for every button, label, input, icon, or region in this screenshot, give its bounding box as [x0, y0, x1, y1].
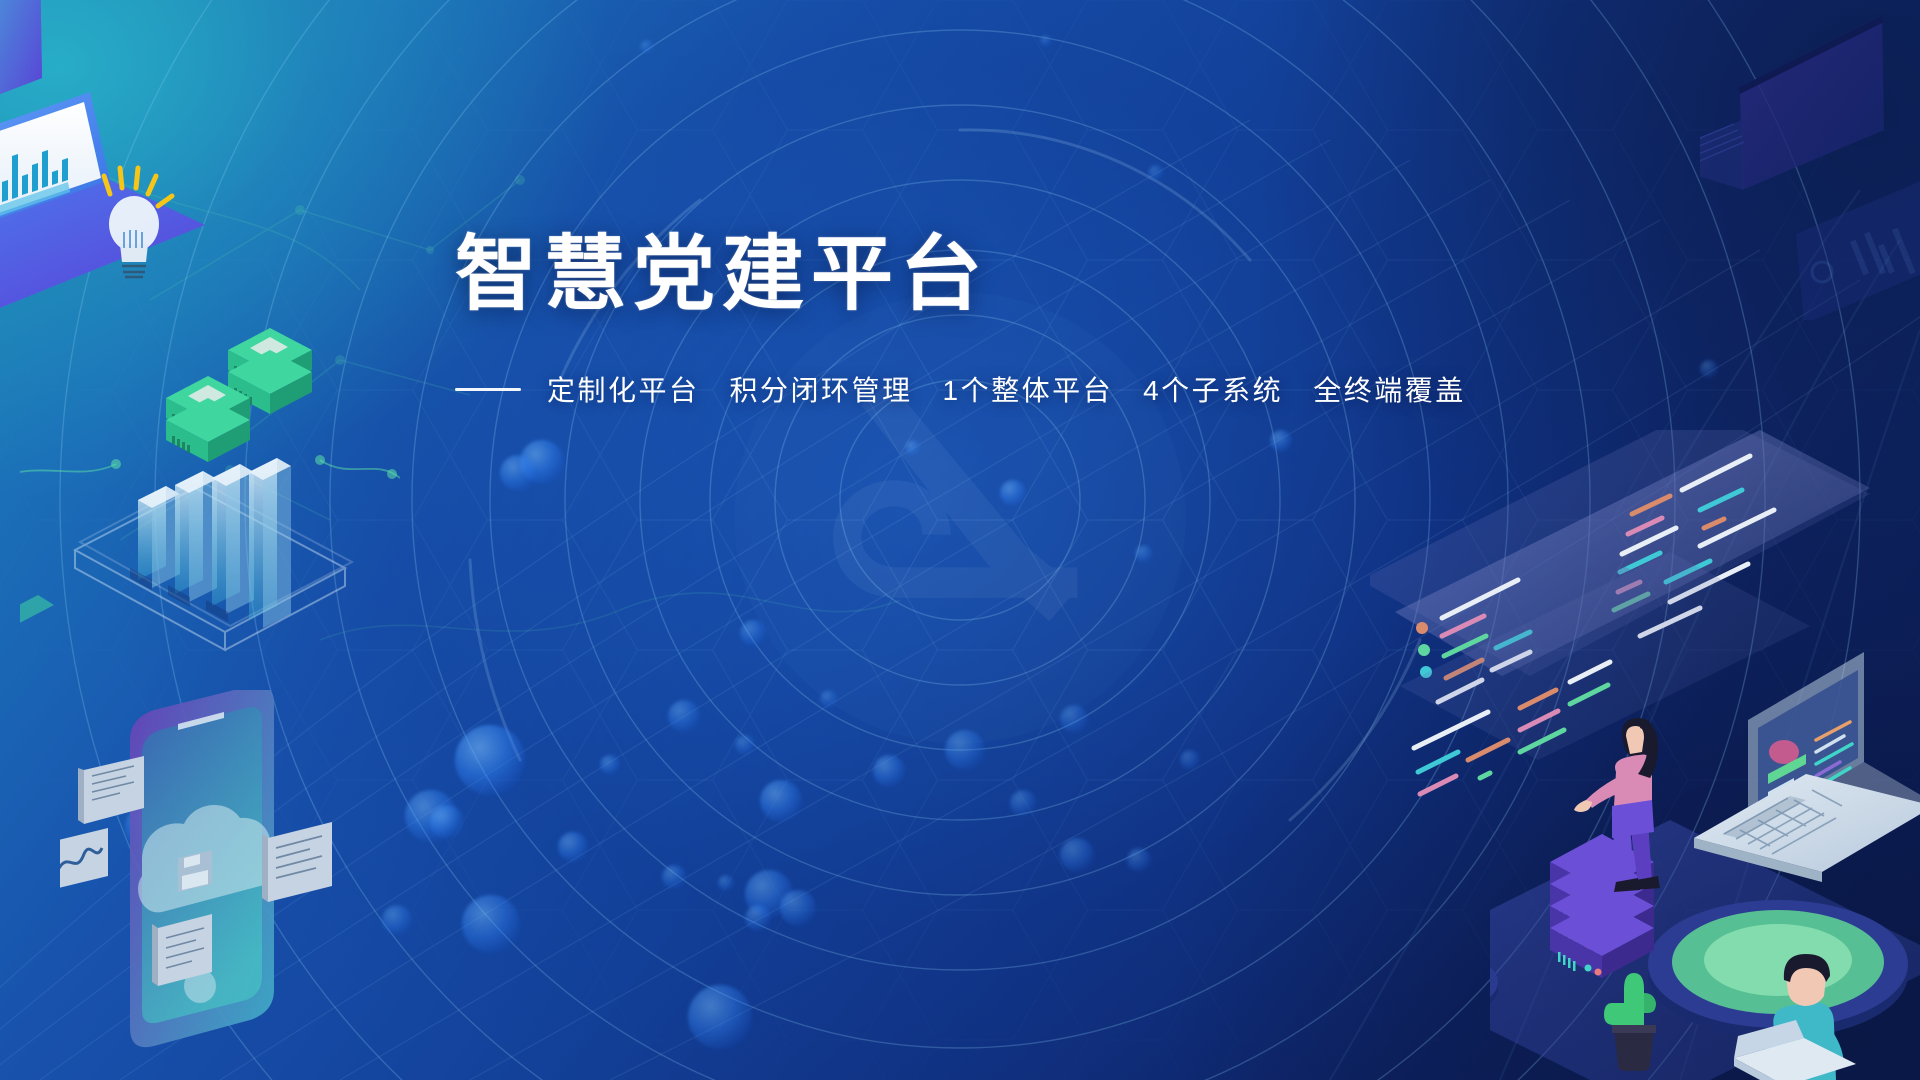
subtitle-item-2: 1个整体平台: [943, 369, 1114, 409]
laptop-analytics: [1694, 652, 1920, 882]
subtitle-item-3: 4个子系统: [1143, 369, 1283, 409]
hero-text-block: 智慧党建平台 定制化平台 积分闭环管理 1个整体平台 4个子系统 全终端覆盖: [455, 232, 1466, 409]
subtitle-items: 定制化平台 积分闭环管理 1个整体平台 4个子系统 全终端覆盖: [547, 369, 1466, 409]
subtitle-item-4: 全终端覆盖: [1313, 369, 1466, 409]
mobile-phone-cloud-storage: [60, 690, 380, 1080]
subtitle-item-0: 定制化平台: [547, 369, 700, 409]
subtitle-item-1: 积分闭环管理: [730, 369, 913, 409]
laptop-silhouette: [1700, 0, 1920, 320]
page-subtitle: 定制化平台 积分闭环管理 1个整体平台 4个子系统 全终端覆盖: [455, 369, 1466, 409]
isometric-monitor-bar-chart: [0, 60, 380, 480]
right-bottom-scene: [1490, 640, 1920, 1080]
subtitle-dash-rule: [455, 388, 521, 391]
hero-banner: 智慧党建平台 定制化平台 积分闭环管理 1个整体平台 4个子系统 全终端覆盖: [0, 0, 1920, 1080]
page-title: 智慧党建平台: [455, 232, 1466, 317]
